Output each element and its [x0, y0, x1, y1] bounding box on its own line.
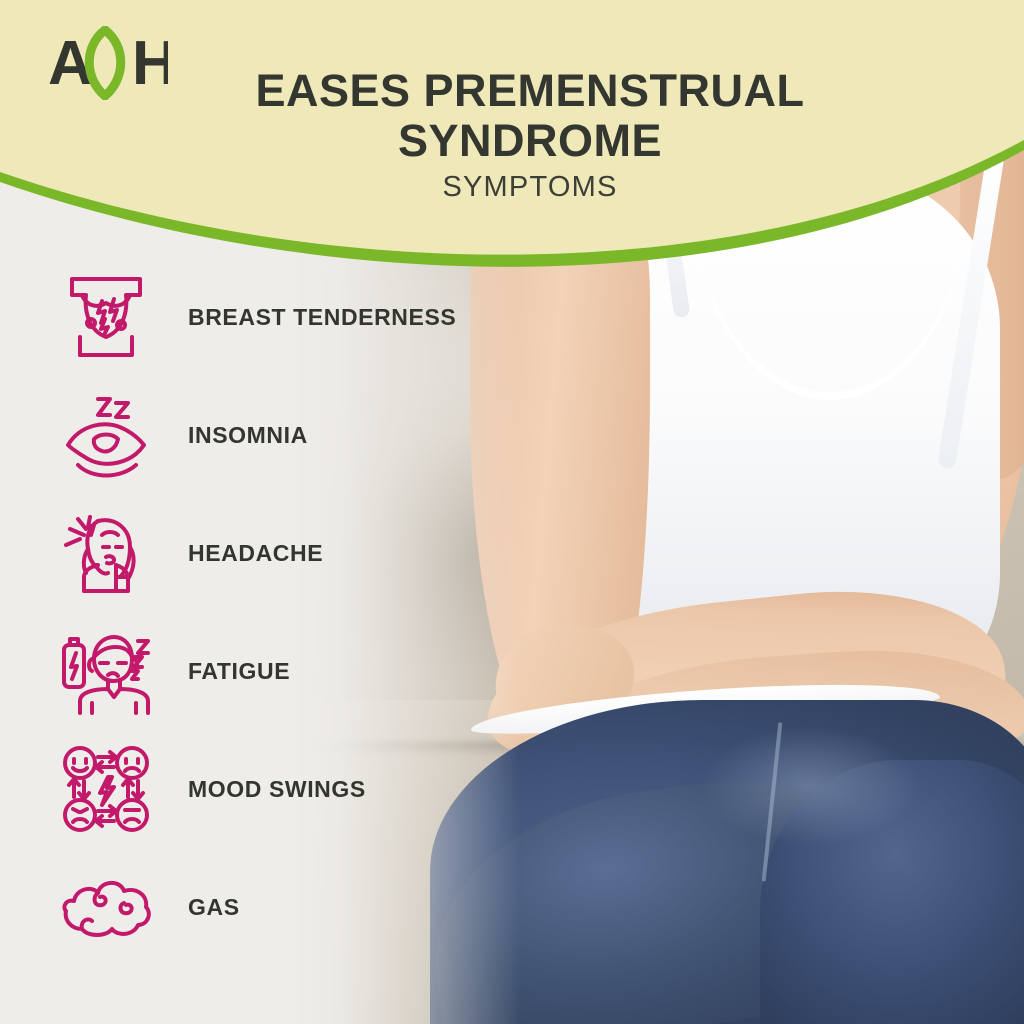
list-item-label: INSOMNIA: [188, 422, 308, 449]
breast-tenderness-icon: [54, 265, 158, 369]
list-item[interactable]: MOOD SWINGS: [54, 730, 484, 848]
list-item-label: GAS: [188, 894, 240, 921]
list-item[interactable]: GAS: [54, 848, 484, 966]
fatigue-battery-zzz-icon: [54, 619, 158, 723]
mood-swings-faces-cycle-icon: [54, 737, 158, 841]
page-title-line1: EASES PREMENSTRUAL: [180, 66, 880, 116]
logo-leaf-icon: [89, 30, 121, 96]
list-item[interactable]: BREAST TENDERNESS: [54, 258, 484, 376]
list-item-label: MOOD SWINGS: [188, 776, 366, 803]
insomnia-eye-zzz-icon: [54, 383, 158, 487]
list-item-label: FATIGUE: [188, 658, 290, 685]
page-title-line2: SYNDROME: [180, 116, 880, 166]
list-item-label: BREAST TENDERNESS: [188, 304, 456, 331]
jeans-highlight: [700, 726, 920, 846]
brand-logo[interactable]: A H: [48, 26, 168, 100]
list-item[interactable]: HEADACHE: [54, 494, 484, 612]
logo-letter-h: H: [132, 29, 168, 98]
page-subtitle: SYMPTOMS: [180, 171, 880, 204]
list-item[interactable]: INSOMNIA: [54, 376, 484, 494]
header-title-block: EASES PREMENSTRUAL SYNDROME SYMPTOMS: [180, 66, 880, 204]
list-item[interactable]: FATIGUE: [54, 612, 484, 730]
symptom-list: BREAST TENDERNESS INSOMNIA: [54, 258, 484, 966]
headache-woman-icon: [54, 501, 158, 605]
infographic-canvas: A H EASES PREMENSTRUAL SYNDROME SYMPTOMS: [0, 0, 1024, 1024]
gas-cloud-icon: [54, 855, 158, 959]
list-item-label: HEADACHE: [188, 540, 323, 567]
